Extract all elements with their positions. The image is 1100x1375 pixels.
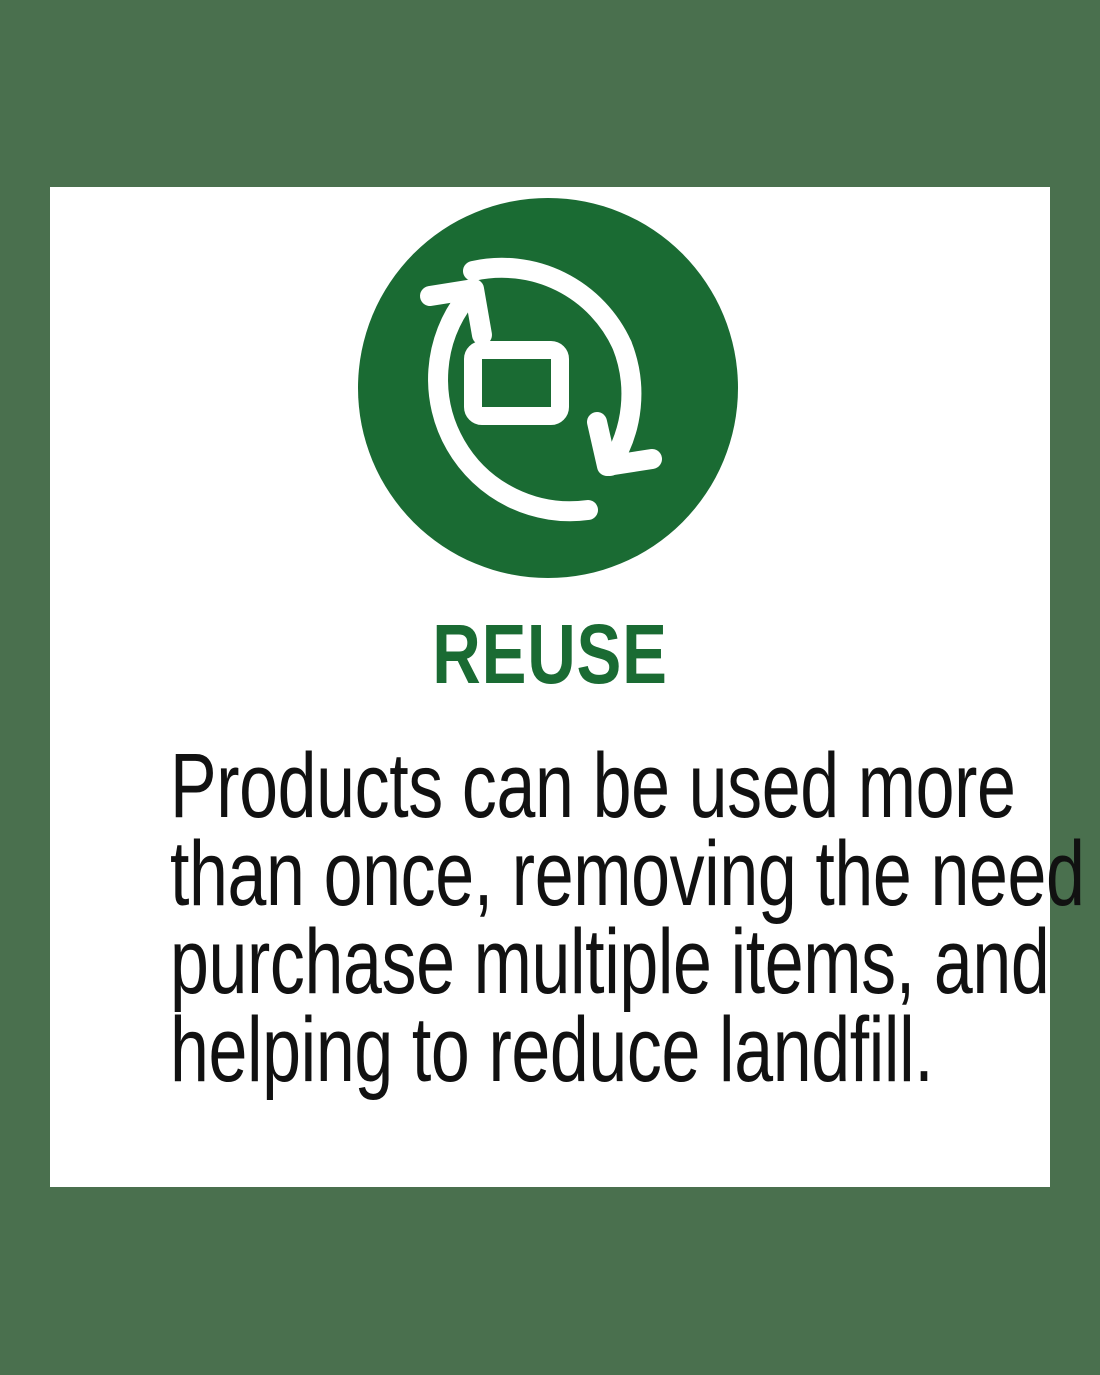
body-paragraph: Products can be used more than once, rem… [170,742,930,1094]
icon-badge-circle [358,198,738,578]
poster-canvas: REUSE Products can be used more than onc… [0,0,1100,1375]
body-line: than once, removing the need to [170,830,930,918]
body-line: purchase multiple items, and [170,918,930,1006]
body-line: helping to reduce landfill. [170,1006,930,1094]
reuse-cycle-icon [358,198,738,578]
page-title: REUSE [150,612,950,696]
info-card: REUSE Products can be used more than onc… [50,187,1050,1187]
reuse-cycle-icon-svg [358,198,738,578]
body-line: Products can be used more [170,742,930,830]
